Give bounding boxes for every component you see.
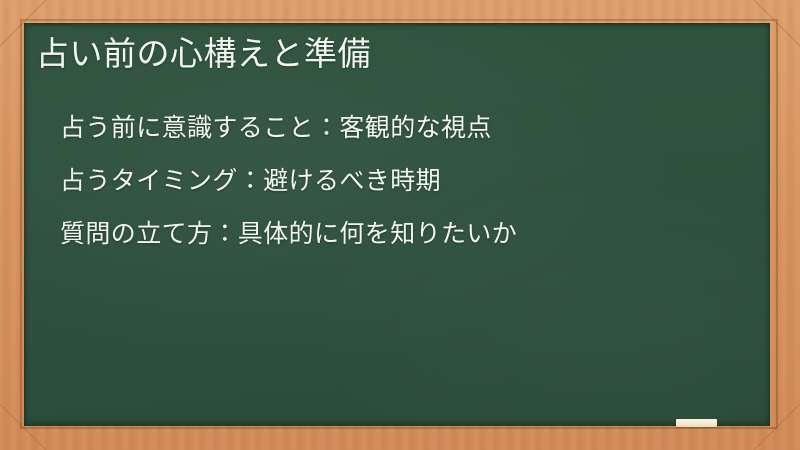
bullet-list: 占う前に意識すること：客観的な視点 占うタイミング：避けるべき時期 質問の立て方… xyxy=(60,102,517,261)
board-content: 占い前の心構えと準備 占う前に意識すること：客観的な視点 占うタイミング：避ける… xyxy=(24,23,770,426)
chalk-stick-icon xyxy=(676,419,717,427)
page-title: 占い前の心構えと準備 xyxy=(36,32,371,76)
list-item: 占うタイミング：避けるべき時期 xyxy=(60,155,517,208)
list-item: 占う前に意識すること：客観的な視点 xyxy=(60,102,517,155)
chalkboard-slide: 占い前の心構えと準備 占う前に意識すること：客観的な視点 占うタイミング：避ける… xyxy=(0,0,800,450)
list-item: 質問の立て方：具体的に何を知りたいか xyxy=(60,208,517,261)
chalkboard-surface: 占い前の心構えと準備 占う前に意識すること：客観的な視点 占うタイミング：避ける… xyxy=(24,23,770,426)
